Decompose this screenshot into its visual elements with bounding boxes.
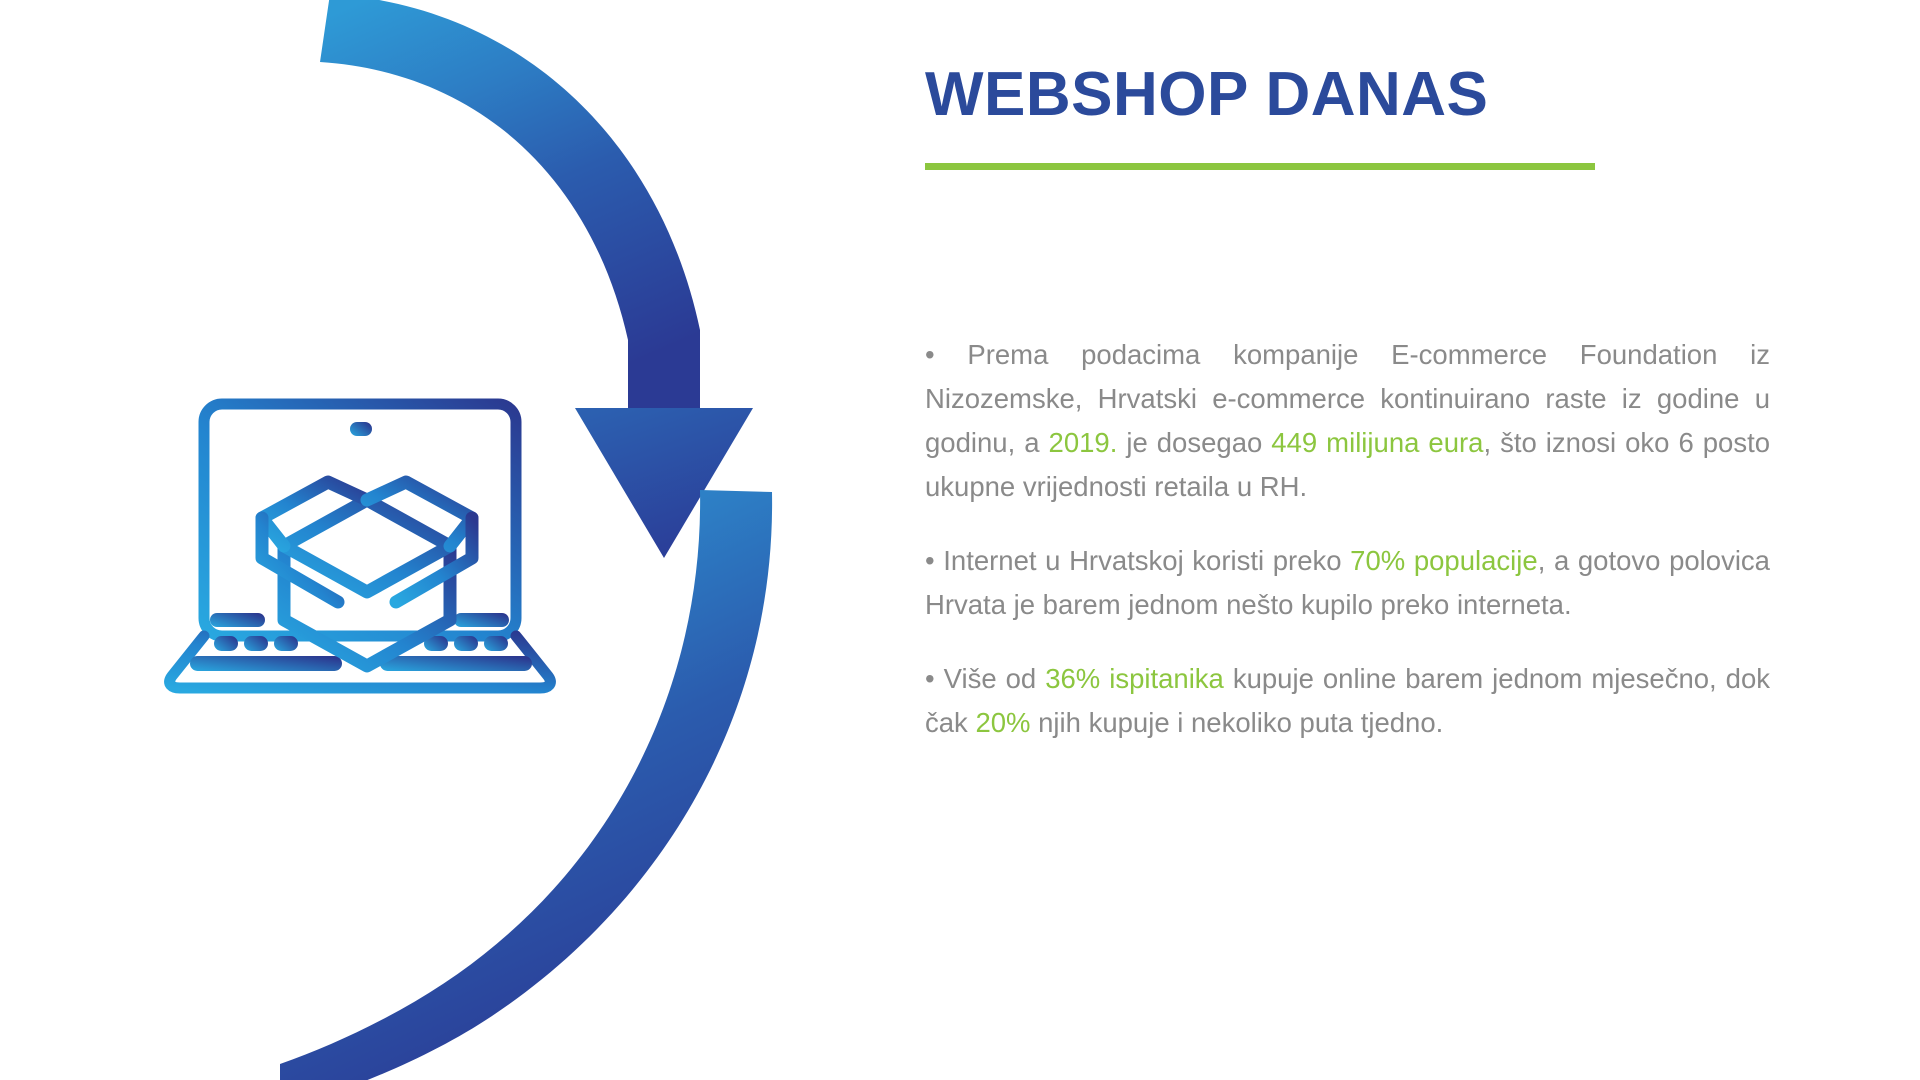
list-item: • Više od 36% ispitanika kupuje online b… bbox=[925, 657, 1770, 745]
highlight-text: 449 milijuna eura bbox=[1271, 427, 1483, 458]
list-item: • Prema podacima kompanije E-commerce Fo… bbox=[925, 333, 1770, 509]
highlight-text: 36% ispitanika bbox=[1045, 663, 1224, 694]
highlight-text: 70% populacije bbox=[1350, 545, 1538, 576]
body-text: njih kupuje i nekoliko puta tjedno. bbox=[1030, 707, 1443, 738]
page-title: WEBSHOP DANAS bbox=[925, 62, 1770, 127]
bullet-marker: • bbox=[925, 663, 944, 694]
highlight-text: 2019. bbox=[1049, 427, 1118, 458]
body-text: Internet u Hrvatskoj koristi preko bbox=[943, 545, 1350, 576]
title-underline-rule bbox=[925, 163, 1595, 170]
content-column: WEBSHOP DANAS • Prema podacima kompanije… bbox=[925, 0, 1770, 1080]
body-text: Više od bbox=[944, 663, 1046, 694]
bullet-list: • Prema podacima kompanije E-commerce Fo… bbox=[925, 333, 1770, 745]
highlight-text: 20% bbox=[975, 707, 1030, 738]
bullet-marker: • bbox=[925, 545, 943, 576]
slide-canvas: WEBSHOP DANAS • Prema podacima kompanije… bbox=[0, 0, 1920, 1080]
bullet-marker: • bbox=[925, 339, 967, 370]
body-text: je dosegao bbox=[1117, 427, 1271, 458]
list-item: • Internet u Hrvatskoj koristi preko 70%… bbox=[925, 539, 1770, 627]
laptop-with-open-box-icon bbox=[152, 388, 582, 700]
